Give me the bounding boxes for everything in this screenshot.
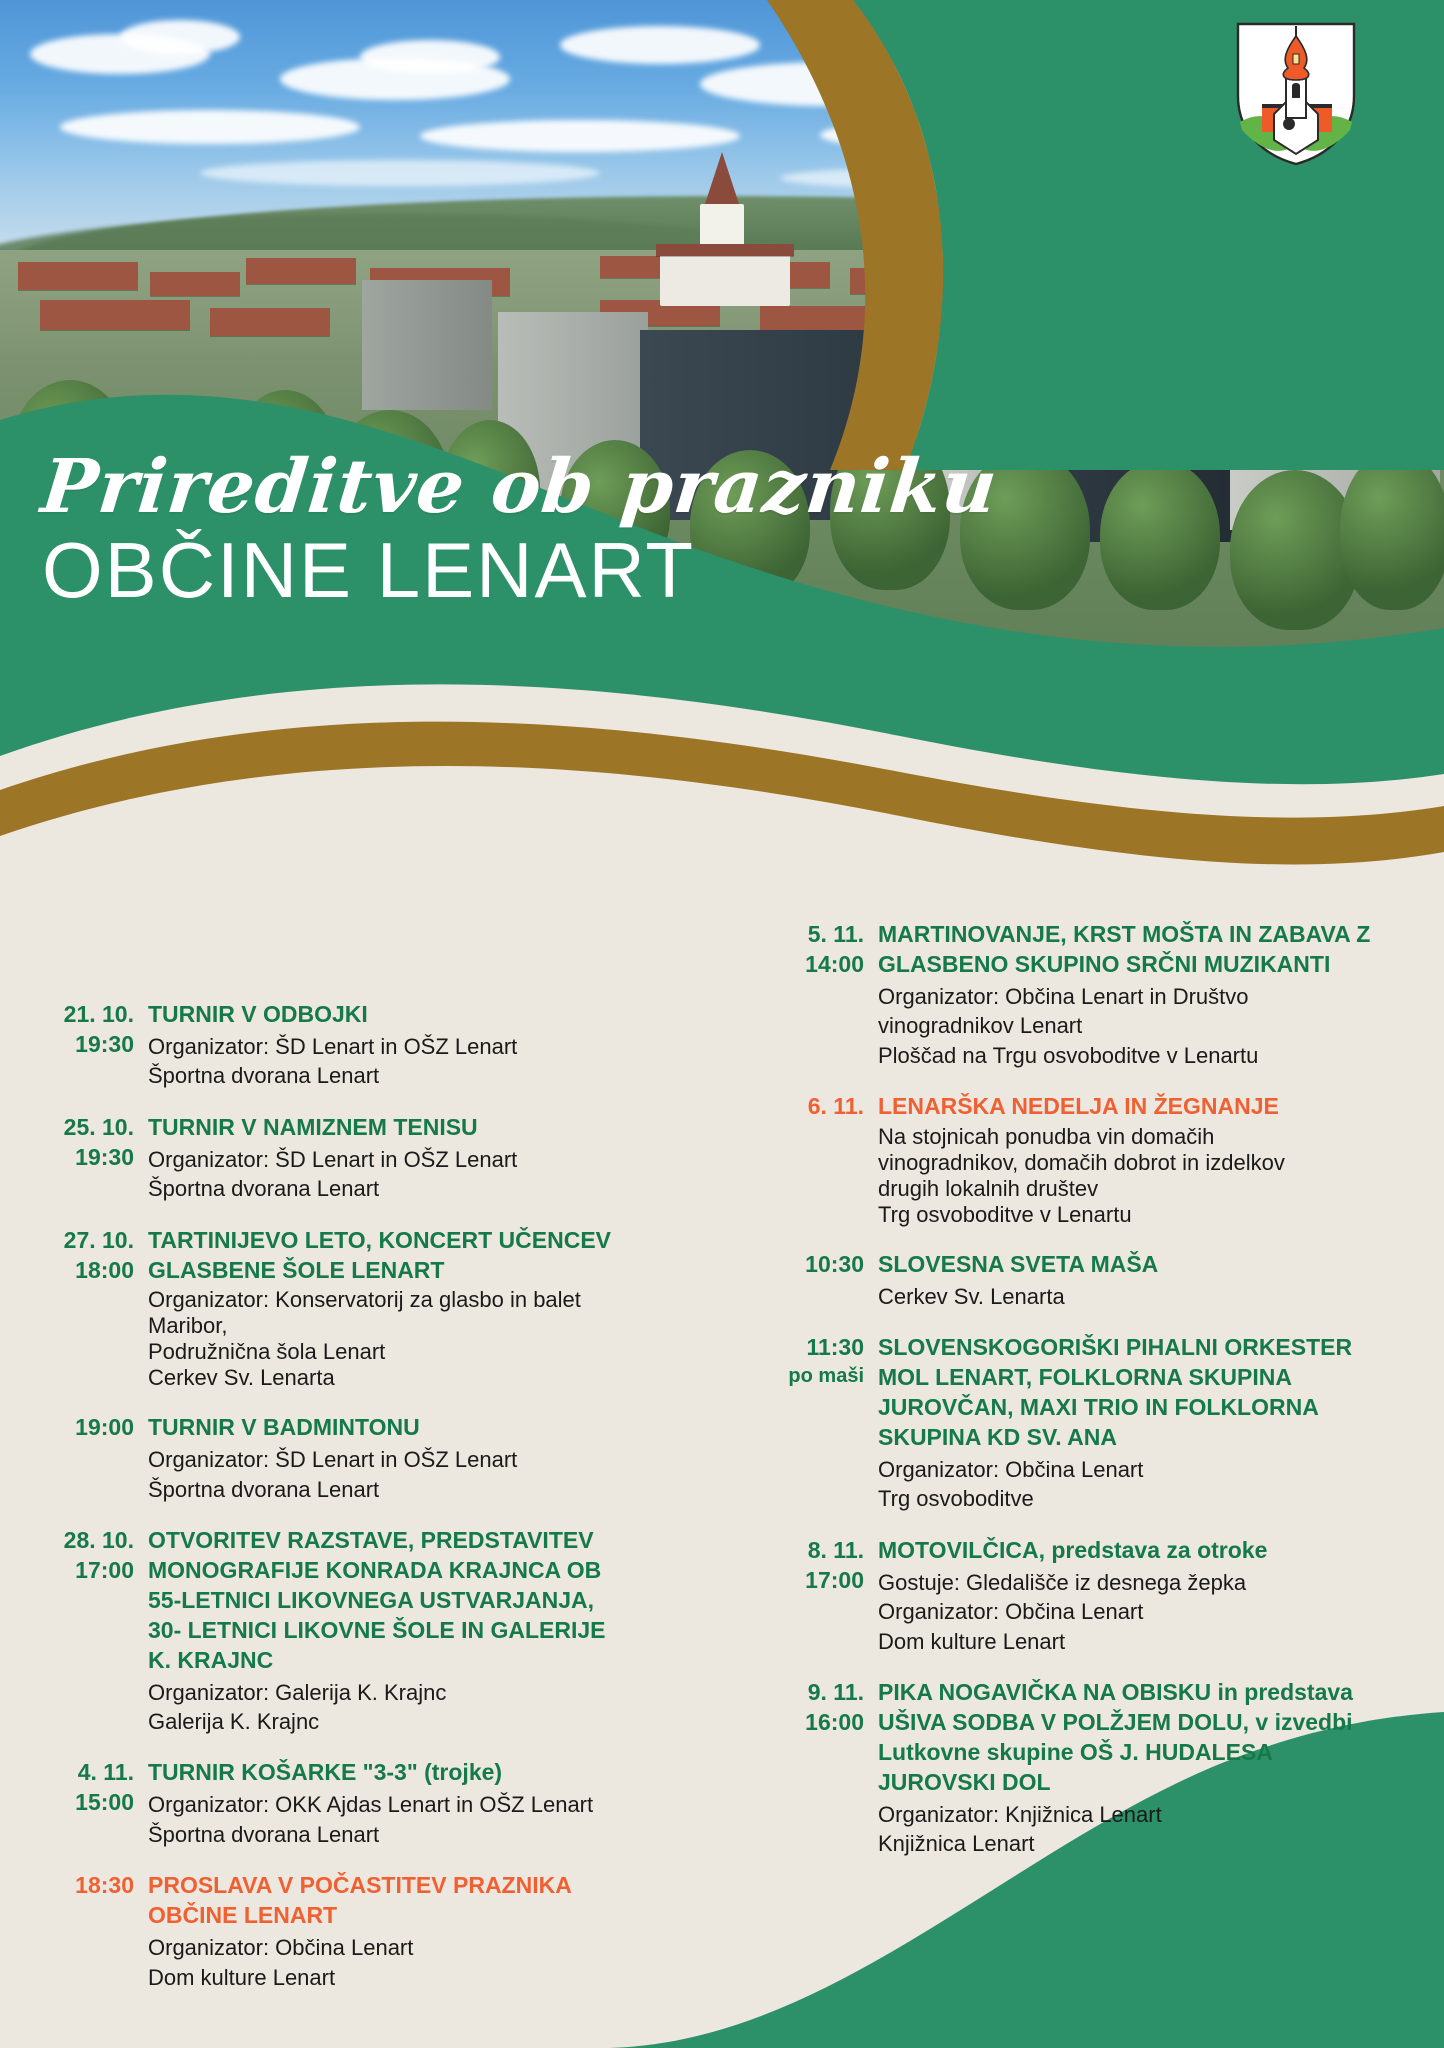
event-date: 21. 10. <box>40 1000 134 1030</box>
event-title: PROSLAVA V POČASTITEV PRAZNIKA OBČINE LE… <box>148 1871 620 1931</box>
event-detail-line: Ploščad na Trgu osvoboditve v Lenartu <box>878 1041 1390 1070</box>
event-datetime: 19:00 <box>40 1413 148 1504</box>
event-date: 9. 11. <box>770 1678 864 1708</box>
event-item-tartinijevo-leto-koncert-ucencev-glasbene-so: 27. 10.18:00TARTINIJEVO LETO, KONCERT UČ… <box>40 1226 620 1392</box>
event-detail-line: vinogradnikov, domačih dobrot in izdelko… <box>878 1150 1390 1176</box>
event-detail-line: drugih lokalnih društev <box>878 1176 1390 1202</box>
event-datetime: 27. 10.18:00 <box>40 1226 148 1392</box>
event-date: 28. 10. <box>40 1526 134 1556</box>
events-content: 21. 10.19:30TURNIR V ODBOJKIOrganizator:… <box>0 0 1444 2048</box>
event-datetime: 28. 10.17:00 <box>40 1526 148 1736</box>
event-detail-line: Organizator: Občina Lenart <box>878 1597 1390 1626</box>
event-body: TURNIR V BADMINTONUOrganizator: ŠD Lenar… <box>148 1413 620 1504</box>
event-detail-line: Organizator: Galerija K. Krajnc <box>148 1678 620 1707</box>
event-date: 6. 11. <box>770 1092 864 1122</box>
event-detail-line: Dom kulture Lenart <box>148 1963 620 1992</box>
event-body: PIKA NOGAVIČKA NA OBISKU in predstava UŠ… <box>878 1678 1390 1859</box>
event-title: TURNIR V BADMINTONU <box>148 1413 620 1443</box>
event-detail-line: Športna dvorana Lenart <box>148 1061 620 1090</box>
event-detail-line: Organizator: ŠD Lenart in OŠZ Lenart <box>148 1445 620 1474</box>
event-detail-line: Gostuje: Gledališče iz desnega žepka <box>878 1568 1390 1597</box>
event-time: 18:30 <box>40 1871 134 1901</box>
event-detail-line: Organizator: Občina Lenart <box>878 1455 1390 1484</box>
event-detail-line: Dom kulture Lenart <box>878 1627 1390 1656</box>
event-title: PIKA NOGAVIČKA NA OBISKU in predstava UŠ… <box>878 1678 1390 1798</box>
event-detail-line: Organizator: OKK Ajdas Lenart in OŠZ Len… <box>148 1790 620 1819</box>
event-body: TURNIR V NAMIZNEM TENISUOrganizator: ŠD … <box>148 1113 620 1204</box>
event-detail-line: Trg osvoboditve <box>878 1484 1390 1513</box>
event-title: TURNIR KOŠARKE "3-3" (trojke) <box>148 1758 620 1788</box>
event-time: 19:00 <box>40 1413 134 1443</box>
event-body: TURNIR KOŠARKE "3-3" (trojke)Organizator… <box>148 1758 620 1849</box>
event-item-turnir-v-odbojki: 21. 10.19:30TURNIR V ODBOJKIOrganizator:… <box>40 1000 620 1091</box>
event-time: 19:30 <box>40 1030 134 1060</box>
event-detail-line: Organizator: ŠD Lenart in OŠZ Lenart <box>148 1032 620 1061</box>
event-time: 18:00 <box>40 1256 134 1286</box>
event-detail-line: Cerkev Sv. Lenarta <box>878 1282 1390 1311</box>
event-detail-line: Organizator: ŠD Lenart in OŠZ Lenart <box>148 1145 620 1174</box>
event-detail-line: Galerija K. Krajnc <box>148 1707 620 1736</box>
event-body: SLOVESNA SVETA MAŠACerkev Sv. Lenarta <box>878 1250 1390 1311</box>
event-item-proslava-v-pocastitev-praznika-obcine-lenart: 18:30PROSLAVA V POČASTITEV PRAZNIKA OBČI… <box>40 1871 620 1992</box>
event-detail-line: Trg osvoboditve v Lenartu <box>878 1202 1390 1228</box>
event-item-otvoritev-razstave-predstavitev-monografije-: 28. 10.17:00OTVORITEV RAZSTAVE, PREDSTAV… <box>40 1526 620 1736</box>
event-title: TURNIR V ODBOJKI <box>148 1000 620 1030</box>
event-title: MOTOVILČICA, predstava za otroke <box>878 1536 1390 1566</box>
event-detail-line: Organizator: Knjižnica Lenart <box>878 1800 1390 1829</box>
event-datetime: 9. 11.16:00 <box>770 1678 878 1859</box>
event-datetime: 25. 10.19:30 <box>40 1113 148 1204</box>
event-item-turnir-kosarke-3-3-trojke: 4. 11.15:00TURNIR KOŠARKE "3-3" (trojke)… <box>40 1758 620 1849</box>
event-item-turnir-v-namiznem-tenisu: 25. 10.19:30TURNIR V NAMIZNEM TENISUOrga… <box>40 1113 620 1204</box>
event-body: TARTINIJEVO LETO, KONCERT UČENCEV GLASBE… <box>148 1226 620 1392</box>
event-time: 16:00 <box>770 1708 864 1738</box>
event-time: 17:00 <box>770 1566 864 1596</box>
event-detail-line: Knjižnica Lenart <box>878 1829 1390 1858</box>
event-item-slovesna-sveta-masa: 10:30SLOVESNA SVETA MAŠACerkev Sv. Lenar… <box>770 1250 1390 1311</box>
event-detail-line: Športna dvorana Lenart <box>148 1475 620 1504</box>
event-item-motovilcica-predstava-za-otroke: 8. 11.17:00MOTOVILČICA, predstava za otr… <box>770 1536 1390 1656</box>
event-datetime: 11:30po maši <box>770 1333 878 1514</box>
event-time: 10:30 <box>770 1250 864 1280</box>
event-title: SLOVESNA SVETA MAŠA <box>878 1250 1390 1280</box>
event-time: 17:00 <box>40 1556 134 1586</box>
poster-title: Prireditve ob prazniku OBČINE LENART <box>42 450 997 612</box>
event-date: 27. 10. <box>40 1226 134 1256</box>
event-datetime: 6. 11. <box>770 1092 878 1228</box>
event-date: 8. 11. <box>770 1536 864 1566</box>
event-date: 4. 11. <box>40 1758 134 1788</box>
events-column-left: 21. 10.19:30TURNIR V ODBOJKIOrganizator:… <box>40 1000 620 2014</box>
event-body: SLOVENSKOGORIŠKI PIHALNI ORKESTER MOL LE… <box>878 1333 1390 1514</box>
event-title: MARTINOVANJE, KRST MOŠTA IN ZABAVA Z GLA… <box>878 920 1390 980</box>
poster-title-main: OBČINE LENART <box>42 530 997 612</box>
event-item-turnir-v-badmintonu: 19:00TURNIR V BADMINTONUOrganizator: ŠD … <box>40 1413 620 1504</box>
event-detail-line: Organizator: Občina Lenart in Društvo <box>878 982 1390 1011</box>
event-body: LENARŠKA NEDELJA IN ŽEGNANJENa stojnicah… <box>878 1092 1390 1228</box>
event-detail-line: Športna dvorana Lenart <box>148 1820 620 1849</box>
event-title: SLOVENSKOGORIŠKI PIHALNI ORKESTER MOL LE… <box>878 1333 1390 1453</box>
event-time: 11:30 <box>770 1333 864 1363</box>
event-datetime: 10:30 <box>770 1250 878 1311</box>
event-detail-line: Organizator: Občina Lenart <box>148 1933 620 1962</box>
event-body: MOTOVILČICA, predstava za otrokeGostuje:… <box>878 1536 1390 1656</box>
event-time: 15:00 <box>40 1788 134 1818</box>
event-detail-line: Cerkev Sv. Lenarta <box>148 1365 620 1391</box>
event-item-slovenskogoriski-pihalni-orkester-mol-lenart: 11:30po mašiSLOVENSKOGORIŠKI PIHALNI ORK… <box>770 1333 1390 1514</box>
event-date: 25. 10. <box>40 1113 134 1143</box>
event-datetime: 21. 10.19:30 <box>40 1000 148 1091</box>
event-title: TURNIR V NAMIZNEM TENISU <box>148 1113 620 1143</box>
event-datetime: 8. 11.17:00 <box>770 1536 878 1656</box>
events-column-right: 5. 11.14:00MARTINOVANJE, KRST MOŠTA IN Z… <box>770 920 1390 1881</box>
event-datetime: 18:30 <box>40 1871 148 1992</box>
event-detail-line: Podružnična šola Lenart <box>148 1339 620 1365</box>
event-body: TURNIR V ODBOJKIOrganizator: ŠD Lenart i… <box>148 1000 620 1091</box>
event-item-pika-nogavicka-na-obisku-in-predstava-usiva-: 9. 11.16:00PIKA NOGAVIČKA NA OBISKU in p… <box>770 1678 1390 1859</box>
event-time: 14:00 <box>770 950 864 980</box>
poster-title-script: Prireditve ob prazniku <box>38 450 1001 524</box>
event-datetime: 4. 11.15:00 <box>40 1758 148 1849</box>
event-datetime: 5. 11.14:00 <box>770 920 878 1070</box>
event-title: LENARŠKA NEDELJA IN ŽEGNANJE <box>878 1092 1390 1122</box>
event-date: 5. 11. <box>770 920 864 950</box>
event-title: TARTINIJEVO LETO, KONCERT UČENCEV GLASBE… <box>148 1226 620 1286</box>
event-title: OTVORITEV RAZSTAVE, PREDSTAVITEV MONOGRA… <box>148 1526 620 1675</box>
event-item-martinovanje-krst-mosta-in-zabava-z-glasbeno: 5. 11.14:00MARTINOVANJE, KRST MOŠTA IN Z… <box>770 920 1390 1070</box>
obcina-lenart-coat-of-arms-icon <box>1232 18 1360 168</box>
event-body: PROSLAVA V POČASTITEV PRAZNIKA OBČINE LE… <box>148 1871 620 1992</box>
event-time-note: po maši <box>770 1363 864 1389</box>
event-body: MARTINOVANJE, KRST MOŠTA IN ZABAVA Z GLA… <box>878 920 1390 1070</box>
event-detail-line: Športna dvorana Lenart <box>148 1174 620 1203</box>
event-body: OTVORITEV RAZSTAVE, PREDSTAVITEV MONOGRA… <box>148 1526 620 1736</box>
event-detail-line: Na stojnicah ponudba vin domačih <box>878 1124 1390 1150</box>
event-time: 19:30 <box>40 1143 134 1173</box>
event-detail-line: Organizator: Konservatorij za glasbo in … <box>148 1287 620 1339</box>
event-detail-line: vinogradnikov Lenart <box>878 1011 1390 1040</box>
event-item-lenarska-nedelja-in-zegnanje: 6. 11.LENARŠKA NEDELJA IN ŽEGNANJENa sto… <box>770 1092 1390 1228</box>
